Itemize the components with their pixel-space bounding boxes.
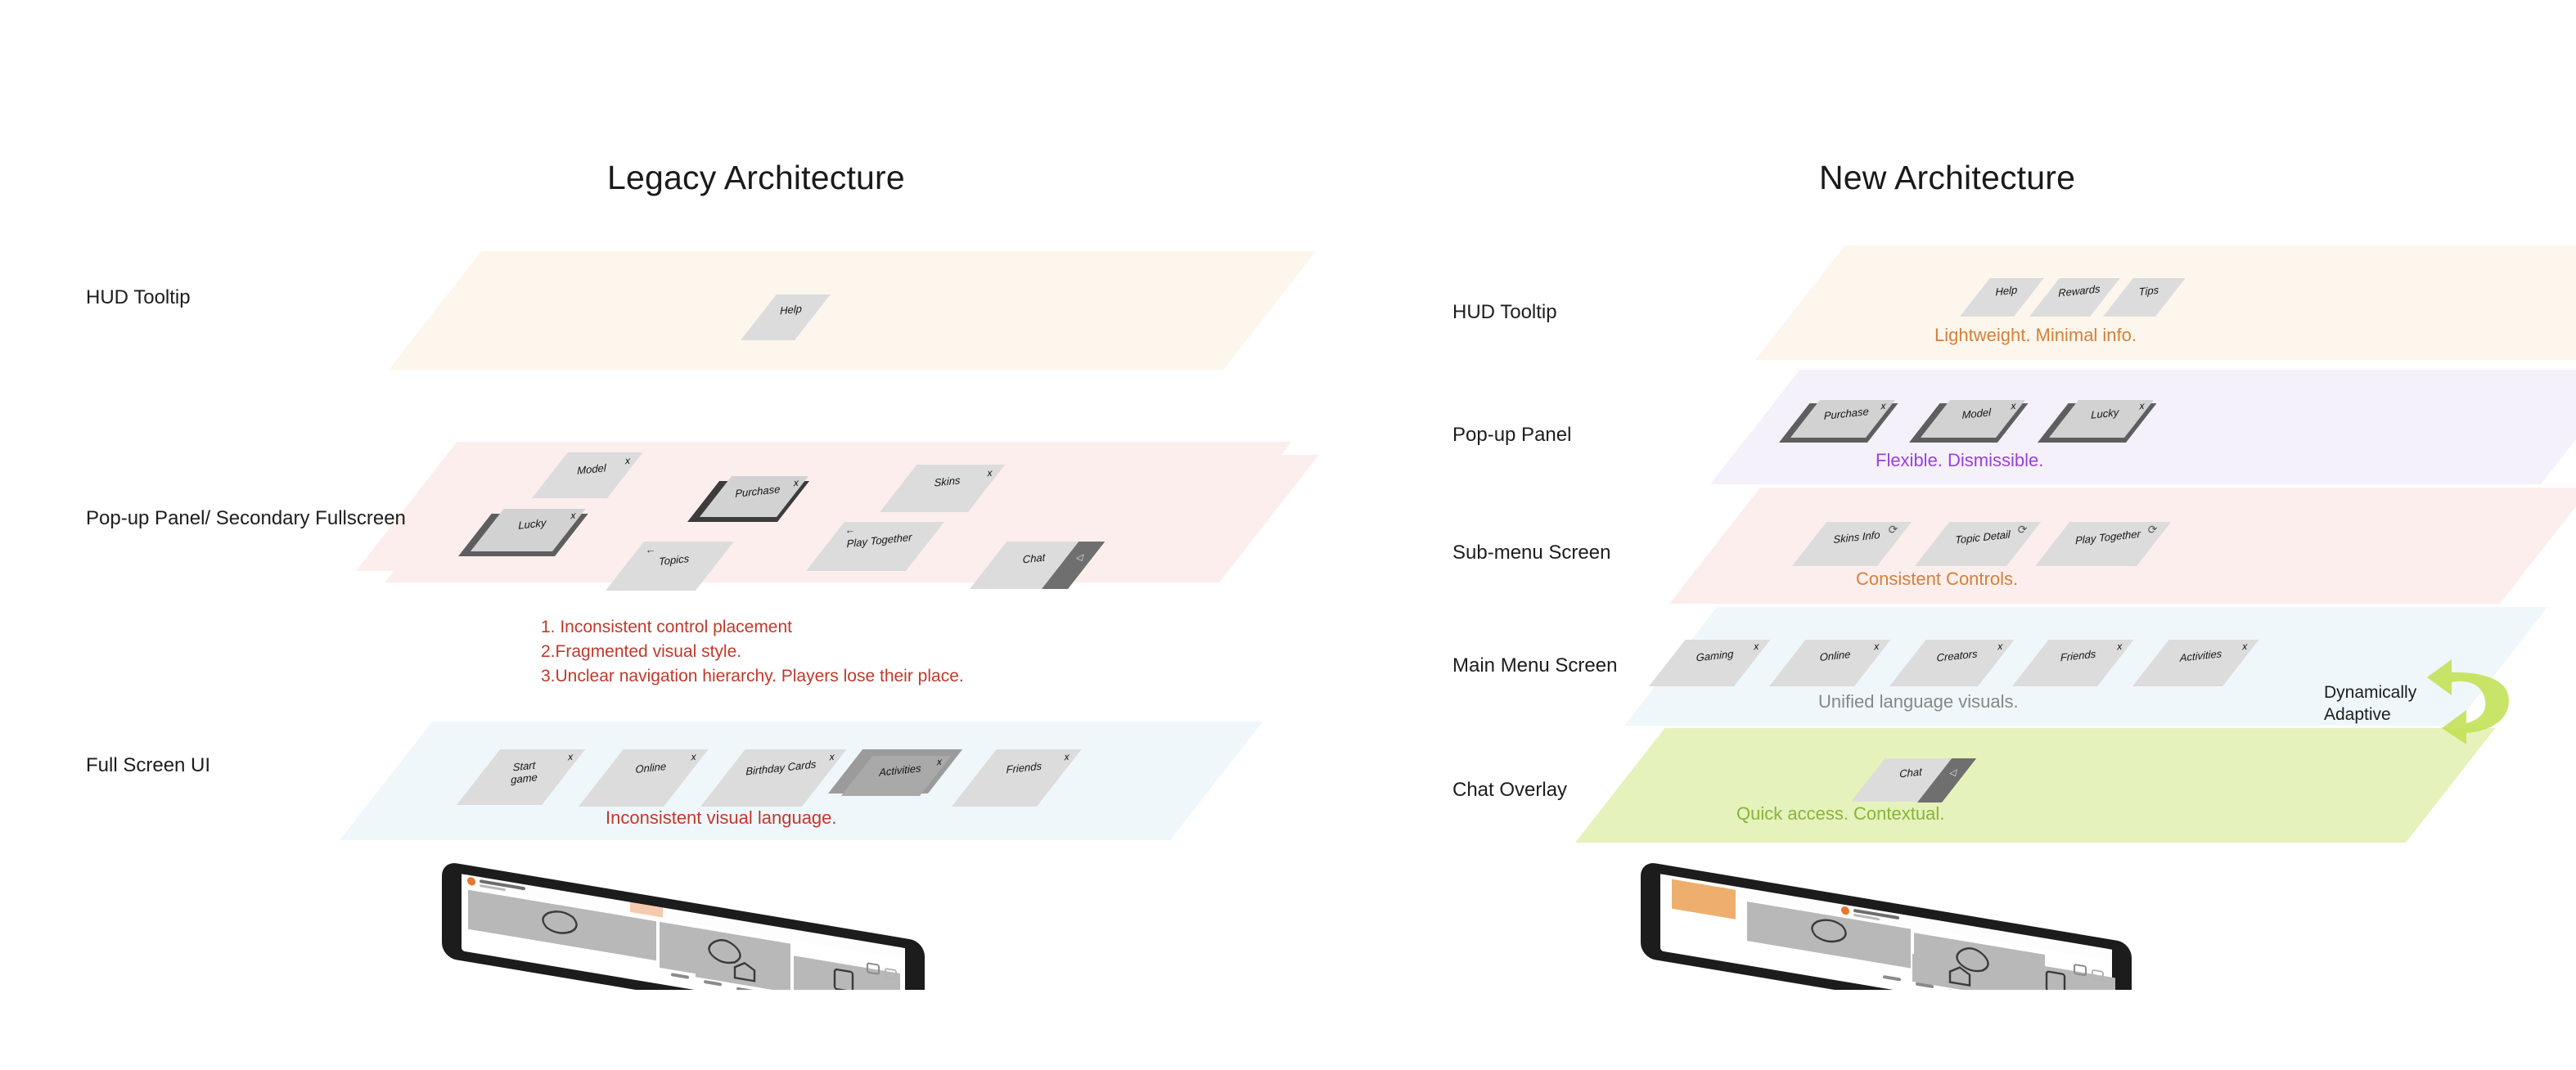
- legacy-slab-hud-tooltip: [389, 251, 1316, 370]
- legacy-card-topics-label: Topics: [629, 550, 719, 571]
- new-column-title: New Architecture: [1819, 159, 2075, 197]
- legacy-problem-1: 1. Inconsistent control placement: [541, 615, 964, 640]
- new-card-tips-label: Tips: [2123, 283, 2175, 301]
- legacy-card-play-together-back-icon[interactable]: ←: [844, 523, 855, 536]
- legacy-card-start-game-label: Start game: [500, 758, 549, 788]
- legacy-tablet-svg: [426, 847, 966, 990]
- new-slab-chat-overlay: [1575, 728, 2495, 843]
- legacy-card-lucky-label: Lucky: [491, 515, 573, 535]
- legacy-card-skins-label: Skins: [903, 471, 992, 492]
- new-card-online-close-icon[interactable]: x: [1874, 641, 1879, 653]
- legacy-card-online-label: Online: [608, 758, 693, 780]
- legacy-row-label-popup-panel: Pop-up Panel/ Secondary Fullscreen: [86, 507, 406, 530]
- new-card-topic-detail-refresh-icon[interactable]: ⟳: [2018, 522, 2028, 537]
- new-card-model-close-icon[interactable]: x: [2011, 400, 2015, 412]
- new-tablet-svg: [1624, 847, 2181, 990]
- new-note-hud-tooltip: Lightweight. Minimal info.: [1934, 325, 2137, 346]
- new-note-popup-panel: Flexible. Dismissible.: [1876, 450, 2043, 471]
- legacy-card-chat-collapse-icon: ◁: [1065, 551, 1092, 564]
- new-card-gaming-close-icon[interactable]: x: [1754, 641, 1759, 653]
- new-row-label-popup-panel: Pop-up Panel: [1452, 424, 1571, 447]
- legacy-card-purchase-close-icon[interactable]: x: [794, 477, 799, 489]
- new-note-main-menu-screen: Unified language visuals.: [1818, 691, 2019, 713]
- new-row-label-chat-overlay: Chat Overlay: [1452, 779, 1567, 802]
- legacy-card-purchase-label: Purchase: [719, 482, 796, 502]
- new-card-help-label: Help: [1979, 283, 2033, 301]
- legacy-card-friends-close-icon[interactable]: x: [1065, 751, 1070, 763]
- new-card-purchase-close-icon[interactable]: x: [1880, 400, 1885, 412]
- legacy-column-title: Legacy Architecture: [607, 159, 905, 197]
- new-card-skins-info-refresh-icon[interactable]: ⟳: [1889, 522, 1898, 537]
- new-card-gaming-label: Gaming: [1673, 646, 1758, 668]
- legacy-card-friends-label: Friends: [981, 758, 1066, 780]
- legacy-problem-3: 3.Unclear navigation hierarchy. Players …: [541, 664, 964, 689]
- new-row-label-hud-tooltip: HUD Tooltip: [1452, 301, 1557, 324]
- new-card-skins-info-label: Skins Info: [1814, 528, 1899, 549]
- dynamically-adaptive-label: Dynamically Adaptive: [2324, 682, 2455, 726]
- new-card-topic-detail-label: Topic Detail: [1937, 527, 2029, 549]
- legacy-tablet-device: [426, 847, 966, 994]
- new-card-creators-close-icon[interactable]: x: [1997, 641, 2002, 653]
- legacy-card-skins-close-icon[interactable]: x: [988, 467, 993, 479]
- new-note-chat-overlay: Quick access. Contextual.: [1736, 803, 1944, 825]
- dynamically-adaptive-line-1: Dynamically: [2324, 682, 2455, 704]
- legacy-card-activities-label: Activities: [861, 761, 939, 781]
- legacy-row-label-full-screen-ui: Full Screen UI: [86, 754, 210, 777]
- legacy-card-help-label: Help: [764, 302, 818, 320]
- new-row-label-sub-menu-screen: Sub-menu Screen: [1452, 542, 1610, 564]
- new-note-sub-menu-screen: Consistent Controls.: [1856, 569, 2018, 590]
- new-card-online-label: Online: [1793, 646, 1878, 668]
- new-card-play-together-label: Play Together: [2057, 526, 2159, 549]
- new-card-rewards-label: Rewards: [2049, 282, 2110, 301]
- new-card-creators-label: Creators: [1913, 645, 2002, 667]
- new-card-lucky-close-icon[interactable]: x: [2139, 400, 2144, 412]
- legacy-row-label-hud-tooltip: HUD Tooltip: [86, 286, 191, 309]
- legacy-card-birthday-cards-close-icon[interactable]: x: [830, 751, 835, 763]
- legacy-card-birthday-cards-label: Birthday Cards: [730, 757, 831, 780]
- legacy-card-online-close-icon[interactable]: x: [691, 751, 696, 763]
- legacy-card-model-close-icon[interactable]: x: [625, 455, 630, 467]
- new-card-activities-label: Activities: [2156, 645, 2246, 667]
- legacy-card-start-game-close-icon[interactable]: x: [568, 751, 573, 763]
- legacy-problem-2: 2.Fragmented visual style.: [541, 640, 964, 664]
- legacy-card-lucky-close-icon[interactable]: x: [570, 510, 575, 522]
- legacy-card-activities-close-icon[interactable]: x: [937, 756, 942, 768]
- new-card-chat-collapse-icon: ◁: [1940, 767, 1965, 780]
- new-card-lucky-label: Lucky: [2067, 404, 2142, 425]
- new-card-friends-close-icon[interactable]: x: [2117, 641, 2122, 653]
- new-card-friends-label: Friends: [2036, 646, 2121, 668]
- new-row-label-main-menu-screen: Main Menu Screen: [1452, 654, 1617, 677]
- new-card-play-together-refresh-icon[interactable]: ⟳: [2148, 522, 2158, 537]
- new-card-purchase-label: Purchase: [1808, 404, 1884, 425]
- legacy-card-model-label: Model: [554, 460, 629, 480]
- new-card-model-label: Model: [1939, 404, 2014, 425]
- legacy-problem-list: 1. Inconsistent control placement 2.Frag…: [541, 615, 964, 688]
- new-tablet-device: [1624, 847, 2181, 994]
- new-card-activities-close-icon[interactable]: x: [2242, 641, 2247, 653]
- legacy-card-topics-back-icon[interactable]: ←: [645, 542, 655, 555]
- dynamically-adaptive-line-2: Adaptive: [2324, 704, 2455, 726]
- legacy-note-full-screen-ui: Inconsistent visual language.: [606, 807, 837, 829]
